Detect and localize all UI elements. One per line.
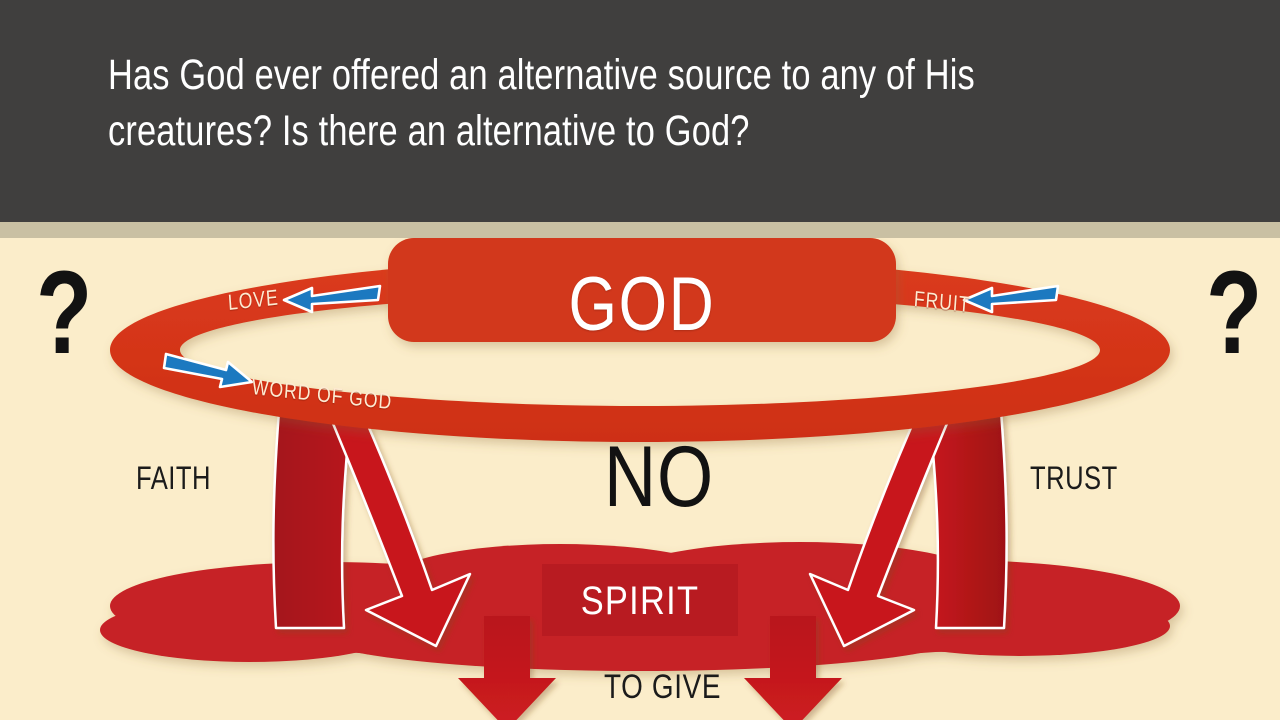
ring-label-love: LOVE: [227, 285, 279, 316]
answer-label-no: NO: [604, 434, 714, 520]
question-mark-left: ?: [36, 254, 92, 372]
god-node-label: GOD: [435, 256, 848, 352]
diagram-canvas: ? ? GOD LOVE FRUIT WORD OF GOD FAITH TRU…: [0, 238, 1280, 720]
spirit-label: SPIRIT: [556, 570, 725, 632]
slide-root: Has God ever offered an alternative sour…: [0, 0, 1280, 720]
to-give-label: TO GIVE: [604, 670, 721, 704]
question-mark-right: ?: [1206, 254, 1262, 372]
side-label-trust: TRUST: [1030, 460, 1118, 497]
left-arch-arrow: [273, 398, 470, 646]
accent-band: [0, 222, 1280, 238]
right-arch-arrow: [810, 398, 1007, 646]
slide-title: Has God ever offered an alternative sour…: [108, 48, 988, 160]
side-label-faith: FAITH: [136, 460, 211, 497]
